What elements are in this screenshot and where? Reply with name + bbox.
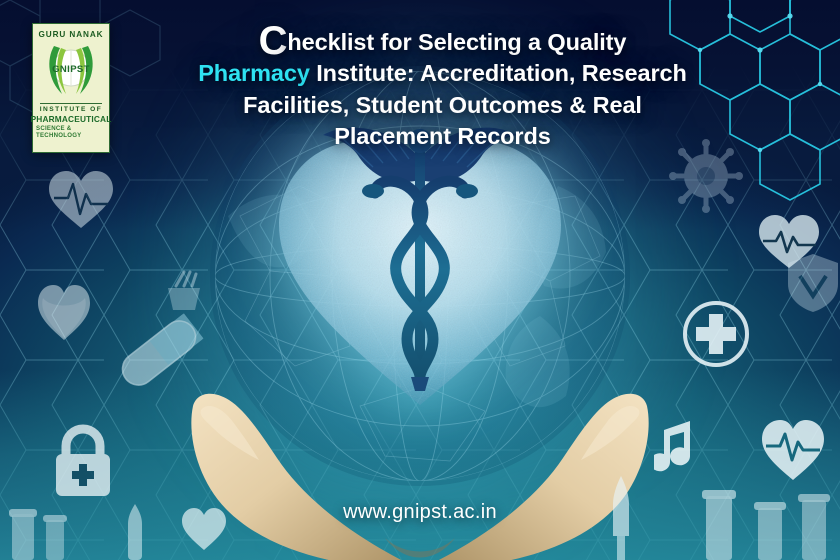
title-line2-rest: Institute: Accreditation, Research	[310, 60, 687, 86]
padlock-medical-icon	[50, 424, 116, 500]
logo-line-3: SCIENCE & TECHNOLOGY	[36, 125, 106, 139]
heartbeat-badge-icon	[758, 416, 828, 484]
heart-pulse-icon	[46, 168, 116, 232]
heart-icon	[36, 282, 92, 344]
title-highlight: Pharmacy	[198, 60, 310, 86]
title-line4: Placement Records	[334, 123, 550, 149]
promotional-banner: GURU NANAK GNIPST INSTITUTE OF PHARMACEU…	[0, 0, 840, 560]
music-note-icon	[654, 418, 696, 476]
logo-line-2: PHARMACEUTICAL	[31, 114, 112, 124]
logo-emblem: GNIPST	[40, 40, 102, 102]
title-line1-rest: hecklist for Selecting a Quality	[287, 29, 626, 55]
medical-cross-circle-icon	[680, 298, 752, 370]
logo-line-1: INSTITUTE OF	[40, 106, 102, 113]
website-url[interactable]: www.gnipst.ac.in	[0, 501, 840, 524]
heart-caduceus-emblem	[255, 103, 585, 433]
mortar-pestle-icon	[160, 268, 208, 316]
logo-divider	[40, 103, 102, 104]
cupped-hands	[185, 388, 655, 560]
shield-check-icon	[786, 252, 840, 314]
gnipst-logo[interactable]: GURU NANAK GNIPST INSTITUTE OF PHARMACEU…	[32, 23, 110, 153]
logo-mark-text: GNIPST	[40, 64, 102, 75]
title-line3: Facilities, Student Outcomes & Real	[243, 92, 642, 118]
page-title: Checklist for Selecting a Quality Pharma…	[170, 27, 715, 152]
logo-top-text: GURU NANAK	[39, 30, 104, 39]
title-dropcap: C	[259, 19, 288, 63]
